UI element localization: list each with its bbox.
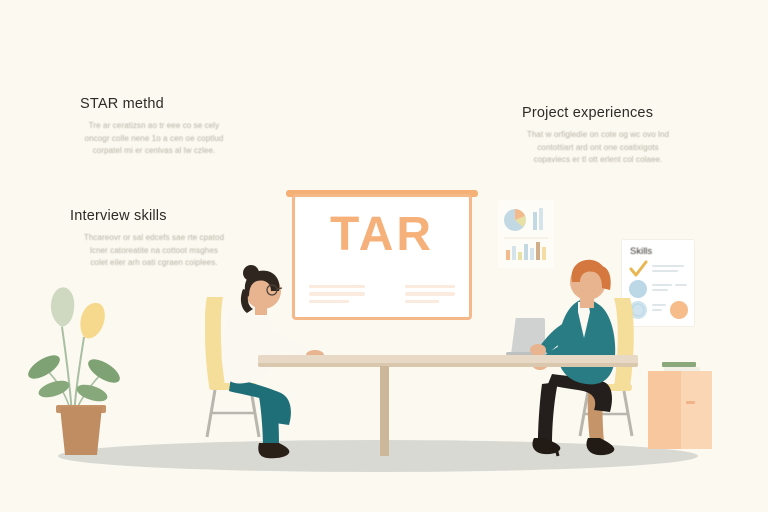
annotation-heading: Project experiences	[508, 105, 688, 121]
whiteboard-line	[405, 285, 455, 289]
whiteboard-line	[405, 292, 455, 296]
annotation-body-line: Tre ar ceratizsn ao tr eee co se cely	[68, 120, 240, 133]
cabinet-handle	[686, 401, 695, 404]
annotation-body-line: corpatel mi er cenlvas al lw czlee.	[68, 145, 240, 158]
annotation-body-line: That w orfigledie on cote og wc ovo lnd	[508, 129, 688, 142]
annotation-heading: STAR methd	[68, 96, 240, 112]
annotation-interview-skills: Interview skills Thcareovr or sal edcefs…	[68, 208, 240, 270]
annotation-body-line: lcner catoreatite na cottoot msghes	[68, 245, 240, 258]
annotation-body-line: oncogr colle nene 1o a cen oe coptlud	[68, 133, 240, 146]
annotation-body-line: contottiart ard ont one coatixigots	[508, 142, 688, 155]
meeting-table-edge	[258, 363, 638, 367]
potted-plant	[22, 275, 122, 455]
illustration-scene: STAR methd Tre ar ceratizsn ao tr eee co…	[0, 0, 768, 512]
chair-back	[614, 298, 634, 386]
whiteboard-title: TAR	[295, 211, 469, 259]
annotation-project-experiences: Project experiences That w orfigledie on…	[508, 105, 688, 167]
annotation-heading: Interview skills	[68, 208, 240, 224]
side-cabinet-door	[681, 371, 712, 449]
whiteboard-line	[405, 300, 439, 304]
trousers-lower	[538, 382, 558, 442]
hair-bun	[243, 265, 259, 281]
plant-leaf	[84, 355, 122, 388]
plant-leaf-yellow	[80, 303, 104, 339]
whiteboard-text-lines-right	[405, 285, 455, 304]
shoe-rear	[586, 438, 614, 455]
meeting-table-leg	[380, 366, 389, 456]
plant-leaf-pale	[51, 287, 74, 327]
trousers-lower	[259, 393, 279, 447]
shoe-heel	[556, 448, 558, 456]
annotation-body-line: copaviecs er tl ott erlent col colaee.	[508, 154, 688, 167]
chair-back	[205, 297, 225, 385]
shoe	[258, 443, 289, 458]
skills-card-title: Skills	[630, 246, 652, 257]
plant-leaf	[24, 351, 63, 384]
annotation-star-method: STAR methd Tre ar ceratizsn ao tr eee co…	[68, 96, 240, 158]
annotation-body-line: Thcareovr or sal edcefs sae rte cpatod	[68, 232, 240, 245]
plant-pot	[60, 407, 102, 455]
